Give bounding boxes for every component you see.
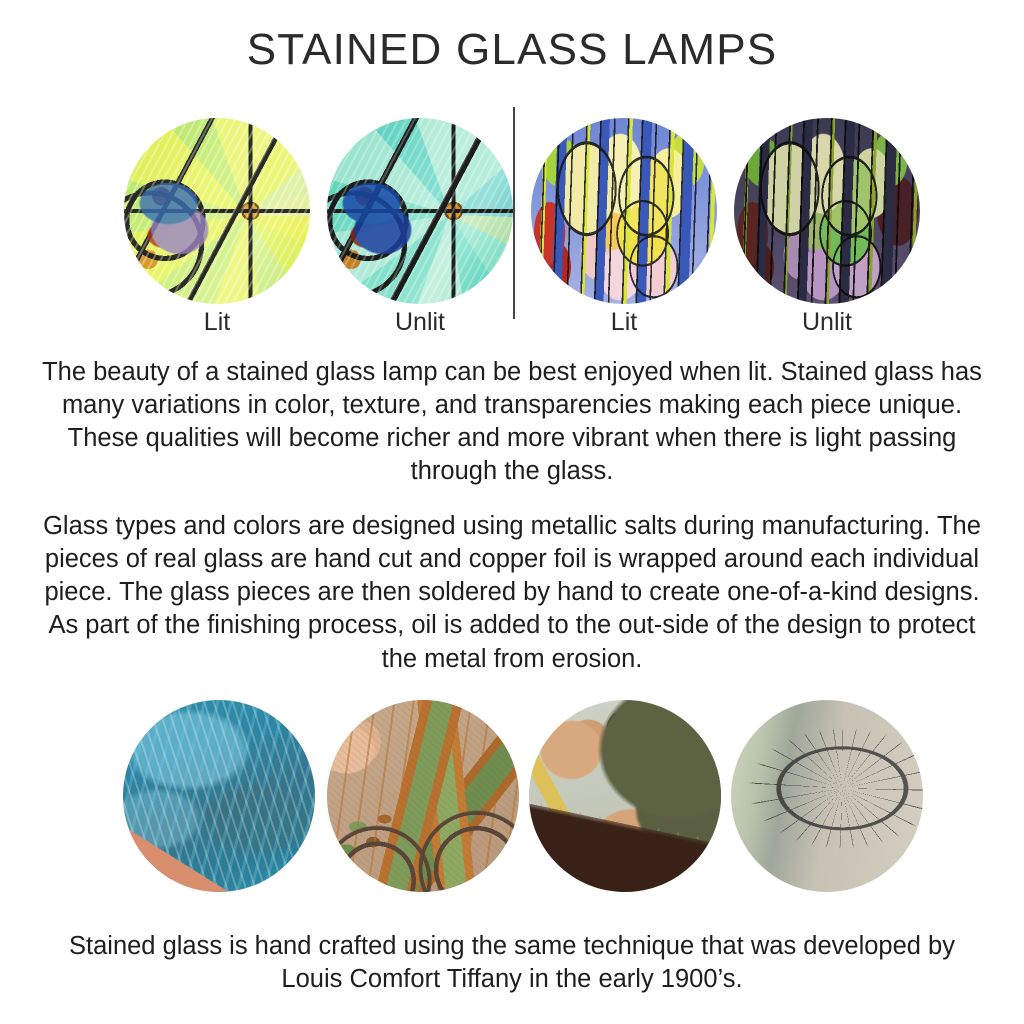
stained-glass-artwork: [734, 118, 920, 304]
stained-glass-floral-unlit-image: [734, 118, 920, 304]
body-paragraph-2: Glass types and colors are designed usin…: [36, 510, 988, 676]
group-divider: [513, 107, 515, 319]
stained-glass-geometric-unlit-image: [327, 118, 513, 304]
comparison-item-geometric-lit: [124, 118, 310, 304]
comparison-label-floral-unlit: Unlit: [734, 308, 920, 337]
hand-soldering-glass-panel-image: [529, 700, 721, 892]
copper-foiled-glass-pieces-image: [327, 700, 519, 892]
stained-glass-artwork: [327, 118, 513, 304]
comparison-label-geometric-unlit: Unlit: [327, 308, 513, 337]
comparison-item-floral-unlit: [734, 118, 920, 304]
copper-foil-artwork: [327, 700, 519, 892]
soldering-artwork: [529, 700, 721, 892]
comparison-item-geometric-unlit: [327, 118, 513, 304]
process-image-row: [0, 700, 1024, 892]
stained-glass-artwork: [531, 118, 717, 304]
blue-swirled-glass-sheet-image: [123, 700, 315, 892]
footer-caption: Stained glass is hand crafted using the …: [36, 930, 988, 996]
stained-glass-floral-lit-image: [531, 118, 717, 304]
comparison-item-floral-lit: [531, 118, 717, 304]
body-paragraph-1: The beauty of a stained glass lamp can b…: [36, 356, 988, 489]
stained-glass-geometric-lit-image: [124, 118, 310, 304]
process-step-4: [731, 700, 923, 892]
page-title: STAINED GLASS LAMPS: [0, 26, 1024, 74]
process-step-2: [327, 700, 519, 892]
tiffany-lamp-artwork: [731, 700, 923, 892]
process-step-3: [529, 700, 721, 892]
process-step-1: [123, 700, 315, 892]
stained-glass-artwork: [124, 118, 310, 304]
finished-tiffany-lamp-image: [731, 700, 923, 892]
comparison-labels: Lit Unlit Lit Unlit: [0, 308, 1024, 344]
infographic-page: STAINED GLASS LAMPS Lit Unlit: [0, 0, 1024, 1024]
glass-sheet-artwork: [123, 700, 315, 892]
lit-unlit-comparison-row: [0, 118, 1024, 308]
comparison-label-geometric-lit: Lit: [124, 308, 310, 337]
comparison-label-floral-lit: Lit: [531, 308, 717, 337]
